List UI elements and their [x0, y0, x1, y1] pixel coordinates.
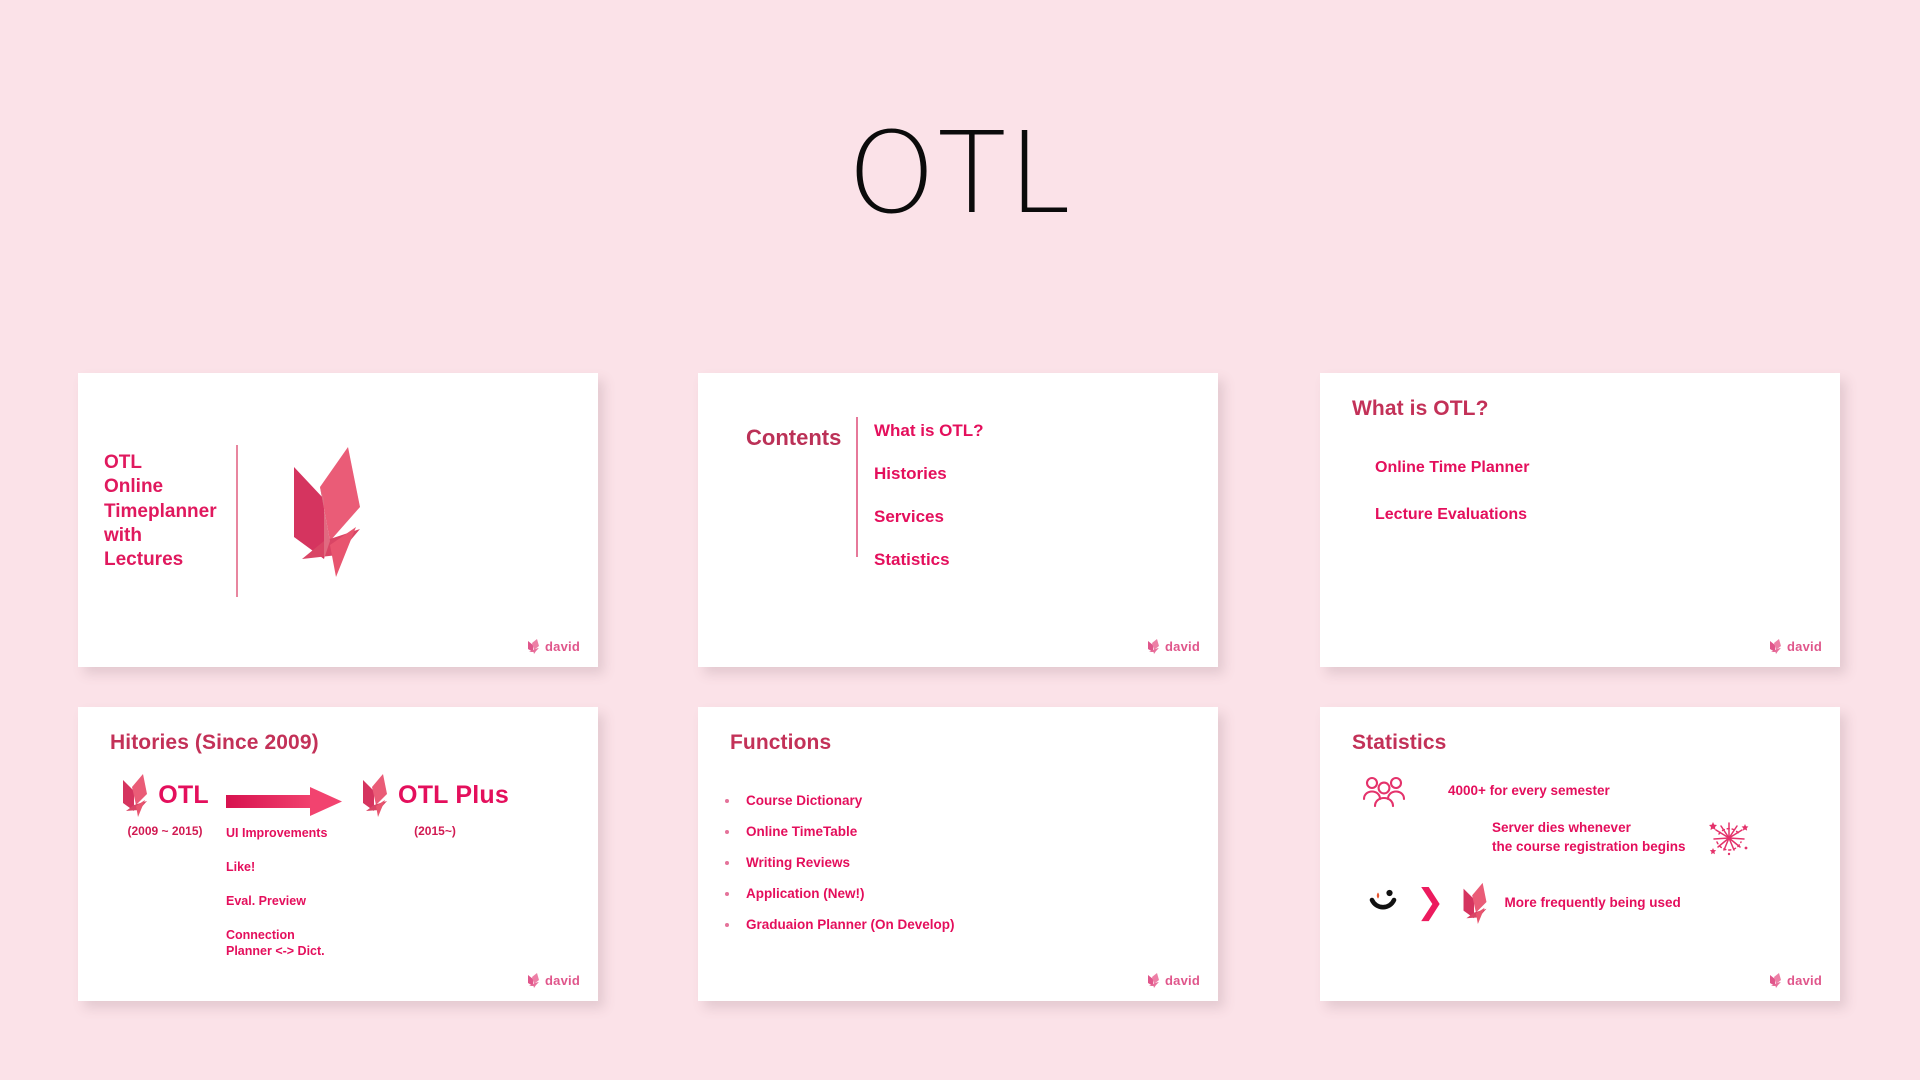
what-is-otl-list: Online Time Planner Lecture Evaluations: [1375, 459, 1529, 553]
statistic-text: 4000+ for every semester: [1448, 781, 1610, 800]
chevron-right-icon: ❯: [1416, 889, 1445, 916]
slide-contents[interactable]: Contents What is OTL? Histories Services…: [698, 373, 1218, 667]
functions-list: Course Dictionary Online TimeTable Writi…: [740, 793, 955, 948]
cover-text: OTL Online Timeplanner with Lectures: [104, 451, 217, 573]
statistic-text: Server dies whenever the course registra…: [1492, 818, 1686, 856]
otl-logo-icon: [1769, 638, 1782, 655]
list-item: Online TimeTable: [740, 824, 955, 839]
list-item: UI Improvements: [226, 825, 327, 841]
otl-logo-icon: [361, 772, 389, 818]
list-item: Course Dictionary: [740, 793, 955, 808]
slide-statistics[interactable]: Statistics 4000+ for every semester Serv…: [1320, 707, 1840, 1001]
deck-title: OTL: [0, 118, 1920, 230]
signature-name: david: [1787, 973, 1822, 988]
list-item: Lecture Evaluations: [1375, 506, 1529, 524]
signature: david: [1147, 972, 1200, 989]
contents-divider: [856, 417, 858, 557]
page-title: Functions: [730, 731, 831, 755]
history-improvements-list: UI Improvements Like! Eval. Preview Conn…: [226, 825, 327, 977]
otl-logo-icon: [1461, 881, 1489, 925]
otl-logo-icon: [527, 972, 540, 989]
signature: david: [1769, 638, 1822, 655]
list-item: Connection Planner <-> Dict.: [226, 927, 327, 959]
page-title: Statistics: [1352, 731, 1446, 755]
history-years: (2015~): [350, 824, 520, 838]
signature-name: david: [545, 639, 580, 654]
statistic-row: 4000+ for every semester: [1362, 775, 1610, 807]
signature-name: david: [545, 973, 580, 988]
signature: david: [1769, 972, 1822, 989]
contents-item[interactable]: Services: [874, 507, 984, 527]
history-milestone-left: OTL (2009 ~ 2015): [90, 772, 240, 838]
otl-logo-icon: [121, 772, 149, 818]
signature-name: david: [1787, 639, 1822, 654]
signature: david: [527, 638, 580, 655]
slide-cover[interactable]: OTL Online Timeplanner with Lectures dav…: [78, 373, 598, 667]
contents-item[interactable]: What is OTL?: [874, 421, 984, 441]
otl-logo-icon: [527, 638, 540, 655]
history-milestone-right: OTL Plus (2015~): [350, 772, 520, 838]
page-title: Hitories (Since 2009): [110, 731, 319, 755]
history-name: OTL: [158, 781, 209, 810]
otl-logo-icon: [1147, 972, 1160, 989]
list-item: Application (New!): [740, 886, 955, 901]
slide-histories[interactable]: Hitories (Since 2009) OTL (2009 ~ 2015): [78, 707, 598, 1001]
statistic-row: Server dies whenever the course registra…: [1492, 817, 1750, 857]
slide-functions[interactable]: Functions Course Dictionary Online TimeT…: [698, 707, 1218, 1001]
smiley-face-icon: [1368, 888, 1400, 918]
history-years: (2009 ~ 2015): [90, 824, 240, 838]
contents-list: What is OTL? Histories Services Statisti…: [874, 421, 984, 593]
group-of-people-icon: [1362, 775, 1406, 807]
list-item: Writing Reviews: [740, 855, 955, 870]
signature-name: david: [1165, 639, 1200, 654]
statistic-text: More frequently being used: [1505, 893, 1681, 912]
cover-divider: [236, 445, 238, 597]
right-arrow-icon: [226, 785, 344, 817]
list-item: Graduaion Planner (On Develop): [740, 917, 955, 932]
signature-name: david: [1165, 973, 1200, 988]
contents-item[interactable]: Histories: [874, 464, 984, 484]
slide-deck-overview: OTL OTL Online Timeplanner with Lectures…: [0, 0, 1920, 1080]
list-item: Like!: [226, 859, 327, 875]
signature: david: [1147, 638, 1200, 655]
statistic-row: ❯ More frequently being used: [1368, 881, 1681, 925]
contents-label: Contents: [746, 425, 841, 451]
signature: david: [527, 972, 580, 989]
slide-what-is-otl[interactable]: What is OTL? Online Time Planner Lecture…: [1320, 373, 1840, 667]
otl-logo-icon: [1147, 638, 1160, 655]
fireworks-icon: [1708, 817, 1750, 857]
list-item: Online Time Planner: [1375, 459, 1529, 477]
history-name: OTL Plus: [398, 781, 509, 810]
contents-item[interactable]: Statistics: [874, 550, 984, 570]
otl-logo-icon: [1769, 972, 1782, 989]
list-item: Eval. Preview: [226, 893, 327, 909]
otl-logo-icon: [290, 441, 368, 583]
page-title: What is OTL?: [1352, 397, 1489, 421]
